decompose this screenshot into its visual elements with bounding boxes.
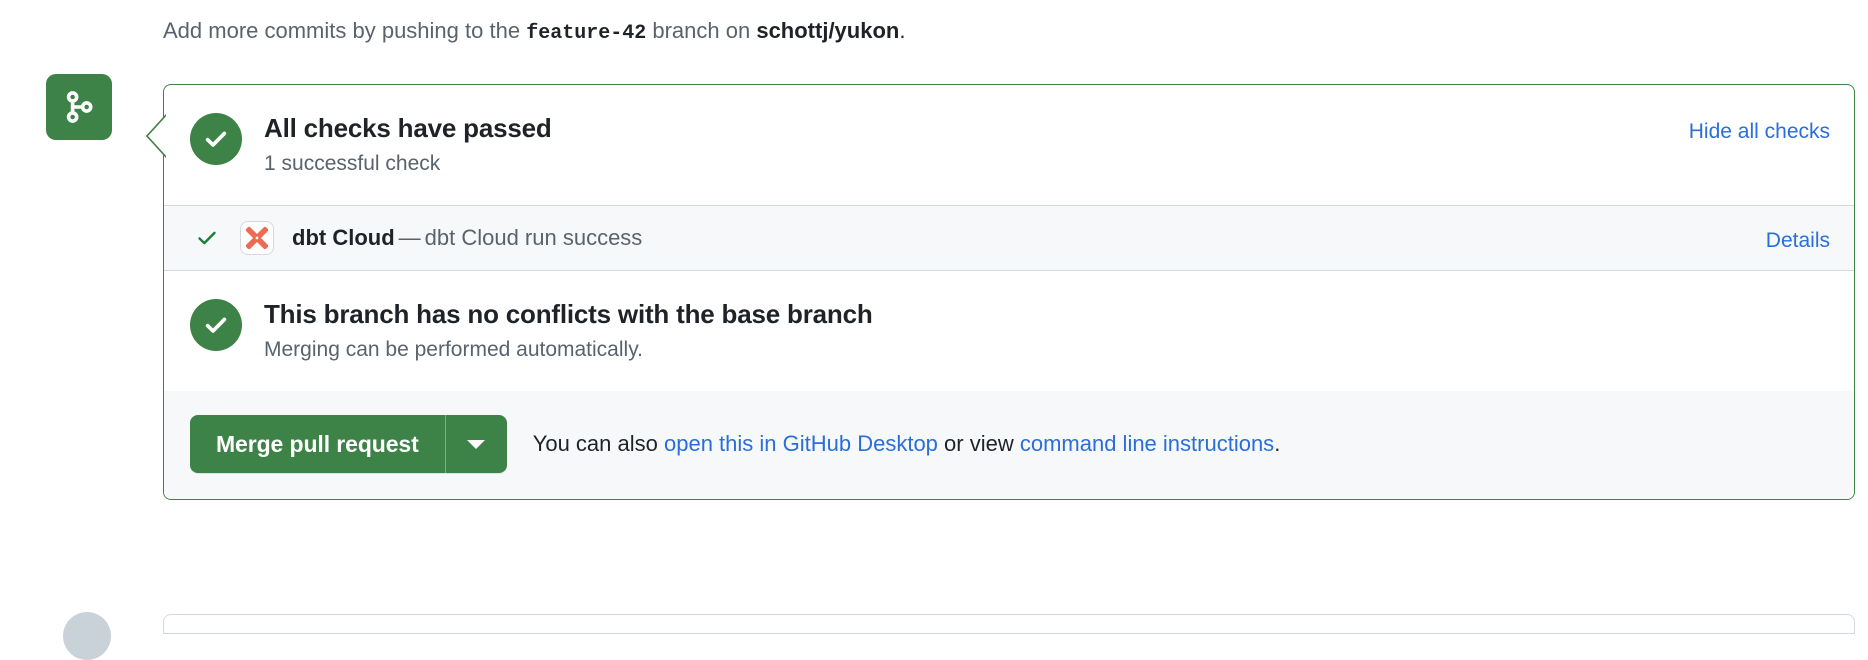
avatar: [63, 612, 111, 660]
check-details-link[interactable]: Details: [1766, 226, 1830, 256]
dbt-logo-icon: [240, 221, 274, 255]
chevron-down-icon: [467, 440, 485, 449]
footer-prefix: You can also: [533, 431, 664, 456]
check-label: dbt Cloud—dbt Cloud run success: [292, 223, 1766, 253]
timeline-merge-badge: [46, 74, 112, 140]
conflicts-text: This branch has no conflicts with the ba…: [264, 297, 1830, 365]
git-merge-icon: [62, 90, 96, 124]
check-name: dbt Cloud: [292, 225, 395, 250]
merge-pull-request-button[interactable]: Merge pull request: [190, 415, 445, 473]
push-commits-hint: Add more commits by pushing to the featu…: [163, 16, 905, 49]
next-timeline-box: [163, 614, 1855, 634]
merge-footer: Merge pull request You can also open thi…: [164, 391, 1854, 499]
footer-suffix: .: [1274, 431, 1280, 456]
conflicts-title: This branch has no conflicts with the ba…: [264, 297, 1830, 331]
merge-button-group: Merge pull request: [190, 415, 507, 473]
check-row[interactable]: dbt Cloud—dbt Cloud run success Details: [164, 206, 1854, 270]
callout-arrow: [146, 114, 168, 158]
hide-all-checks-toggle[interactable]: Hide all checks: [1689, 117, 1830, 147]
check-circle-icon: [190, 299, 242, 351]
merge-footer-text: You can also open this in GitHub Desktop…: [533, 429, 1281, 459]
checks-summary-row: All checks have passed 1 successful chec…: [164, 85, 1854, 205]
checks-summary-title: All checks have passed: [264, 111, 1689, 145]
checks-summary-text: All checks have passed 1 successful chec…: [264, 111, 1689, 179]
check-circle-icon: [190, 113, 242, 165]
check-description: dbt Cloud run success: [425, 225, 643, 250]
command-line-instructions-link[interactable]: command line instructions: [1020, 431, 1274, 456]
conflicts-row: This branch has no conflicts with the ba…: [164, 271, 1854, 391]
push-hint-prefix: Add more commits by pushing to the: [163, 18, 520, 43]
push-hint-middle: branch on: [652, 18, 750, 43]
checks-summary-subtitle: 1 successful check: [264, 149, 1689, 179]
checks-list: dbt Cloud—dbt Cloud run success Details: [164, 205, 1854, 271]
branch-name: feature-42: [526, 22, 646, 45]
repository-name: schottj/yukon: [756, 18, 899, 43]
check-dash: —: [395, 225, 425, 250]
conflicts-subtitle: Merging can be performed automatically.: [264, 335, 1830, 365]
merge-status-box: All checks have passed 1 successful chec…: [163, 84, 1855, 500]
push-hint-suffix: .: [899, 18, 905, 43]
check-icon: [192, 226, 222, 250]
footer-middle: or view: [938, 431, 1020, 456]
github-desktop-link[interactable]: open this in GitHub Desktop: [664, 431, 938, 456]
merge-dropdown-button[interactable]: [445, 415, 507, 473]
